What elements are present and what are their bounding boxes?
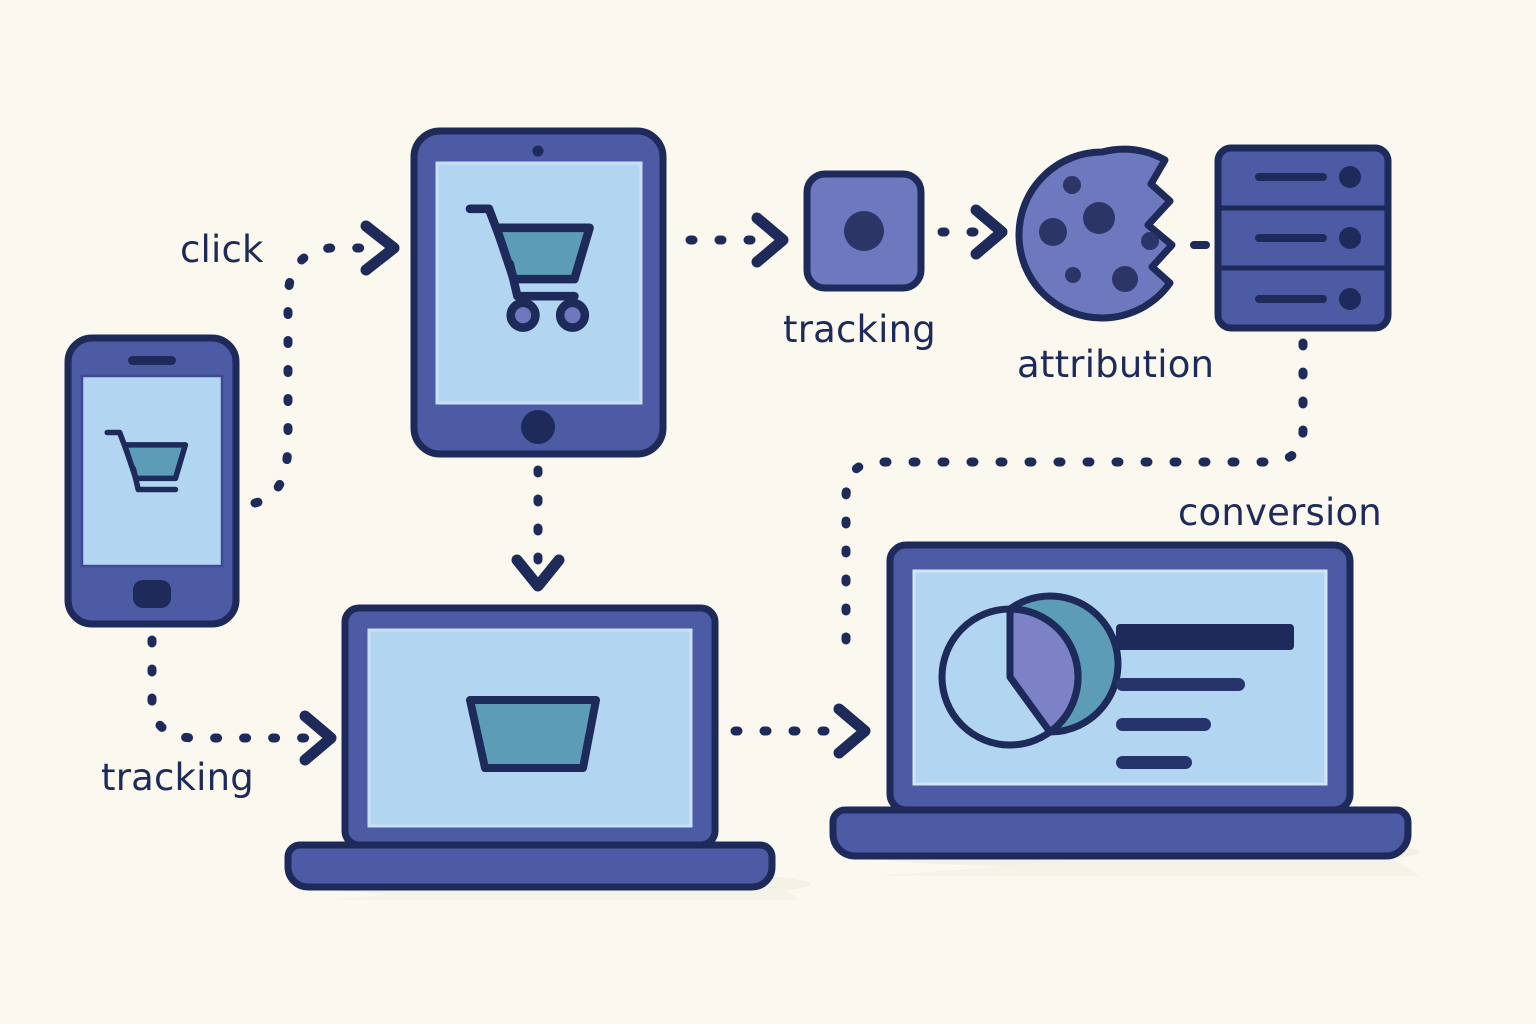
server-rack[interactable]	[1218, 148, 1388, 328]
arrowhead-to-tablet	[366, 226, 394, 270]
server-slot-bar	[1255, 173, 1327, 181]
laptop-base	[288, 845, 772, 887]
cart-basket-icon	[470, 700, 596, 768]
laptop-base	[833, 810, 1408, 856]
dashboard-headline-bar	[1116, 624, 1294, 650]
cookie-chip	[1039, 218, 1067, 246]
tablet-home-button[interactable]	[521, 410, 555, 444]
server-led-icon	[1339, 166, 1361, 188]
cookie-chip	[1141, 232, 1159, 250]
diagram-canvas: click tracking attribution conversion tr…	[0, 0, 1536, 1024]
smartphone-device[interactable]	[68, 338, 236, 624]
cookie-chip	[1083, 202, 1115, 234]
server-led-icon	[1339, 288, 1361, 310]
dashboard-text-line	[1116, 756, 1192, 769]
dashboard-text-line	[1116, 678, 1245, 691]
cookie-chip	[1065, 267, 1081, 283]
label-click: click	[180, 228, 264, 271]
cookie-chip	[1063, 176, 1081, 194]
cookie-icon[interactable]	[1019, 149, 1172, 318]
server-led-icon	[1339, 227, 1361, 249]
laptop-analytics-dashboard[interactable]	[833, 545, 1408, 856]
phone-home-button[interactable]	[133, 580, 171, 608]
server-slot-bar	[1255, 234, 1327, 242]
label-tracking-pixel: tracking	[783, 308, 936, 351]
cookie-chip	[1112, 266, 1138, 292]
arrowhead-to-cookie	[976, 210, 1002, 254]
tablet-device[interactable]	[414, 131, 663, 454]
arrowhead-to-dashboard	[839, 709, 865, 753]
phone-speaker-icon	[128, 356, 176, 365]
label-tracking-desktop: tracking	[101, 756, 254, 799]
tablet-camera-icon	[533, 146, 544, 157]
pixel-dot-icon	[844, 211, 884, 251]
server-slot-bar	[1255, 295, 1327, 303]
dashboard-text-line	[1116, 718, 1211, 731]
label-attribution: attribution	[1017, 343, 1214, 386]
edge-phone-to-tablet	[255, 248, 372, 503]
label-conversion: conversion	[1178, 491, 1382, 534]
arrowhead-to-pixel	[757, 218, 783, 262]
laptop-checkout[interactable]	[288, 608, 772, 887]
edge-phone-to-laptop-cart	[152, 640, 310, 738]
tracking-pixel-square[interactable]	[807, 174, 921, 288]
